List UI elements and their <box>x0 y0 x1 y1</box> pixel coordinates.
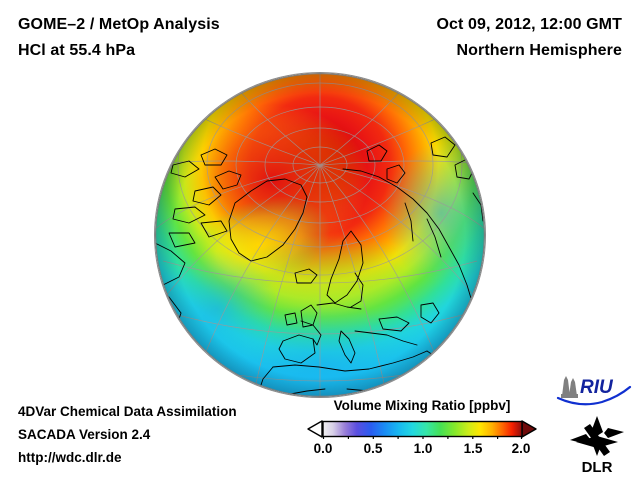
header-right-block: Oct 09, 2012, 12:00 GMT Northern Hemisph… <box>436 12 622 64</box>
dlr-logo: DLR <box>566 412 628 474</box>
riu-logo: RIU <box>556 374 632 408</box>
header-left-block: GOME–2 / MetOp Analysis HCl at 55.4 hPa <box>18 12 220 64</box>
cathedral-spires-icon <box>561 376 578 398</box>
website-url[interactable]: http://wdc.dlr.de <box>18 446 237 469</box>
riu-logo-text: RIU <box>580 377 614 398</box>
datetime-label: Oct 09, 2012, 12:00 GMT <box>436 12 622 38</box>
colorbar <box>306 419 538 439</box>
globe-limb-shading <box>155 73 485 397</box>
colorbar-tick-label-1: 0.5 <box>364 441 383 456</box>
method-label: 4DVar Chemical Data Assimilation <box>18 400 237 423</box>
orthographic-globe-map <box>155 73 485 397</box>
globe-data-layer <box>155 73 485 397</box>
colorbar-tick-label-4: 2.0 <box>512 441 531 456</box>
hemisphere-label: Northern Hemisphere <box>436 38 622 64</box>
colorbar-tick-labels: 0.0 0.5 1.0 1.5 2.0 <box>306 441 538 459</box>
version-label: SACADA Version 2.4 <box>18 423 237 446</box>
footer-left-block: 4DVar Chemical Data Assimilation SACADA … <box>18 400 237 469</box>
colorbar-title: Volume Mixing Ratio [ppbv] <box>306 398 538 413</box>
colorbar-ticks <box>324 437 522 439</box>
colorbar-block: Volume Mixing Ratio [ppbv] <box>306 398 538 459</box>
dlr-logo-text: DLR <box>582 459 613 474</box>
analysis-title: GOME–2 / MetOp Analysis <box>18 12 220 38</box>
species-level-subtitle: HCl at 55.4 hPa <box>18 38 220 64</box>
colorbar-gradient <box>323 422 522 437</box>
colorbar-tick-label-3: 1.5 <box>464 441 483 456</box>
colorbar-tick-label-0: 0.0 <box>314 441 333 456</box>
colorbar-under-arrow <box>308 421 322 437</box>
colorbar-tick-label-2: 1.0 <box>414 441 433 456</box>
dlr-pinwheel-icon <box>570 416 624 456</box>
colorbar-over-arrow <box>522 421 536 437</box>
globe-panel <box>155 73 485 397</box>
